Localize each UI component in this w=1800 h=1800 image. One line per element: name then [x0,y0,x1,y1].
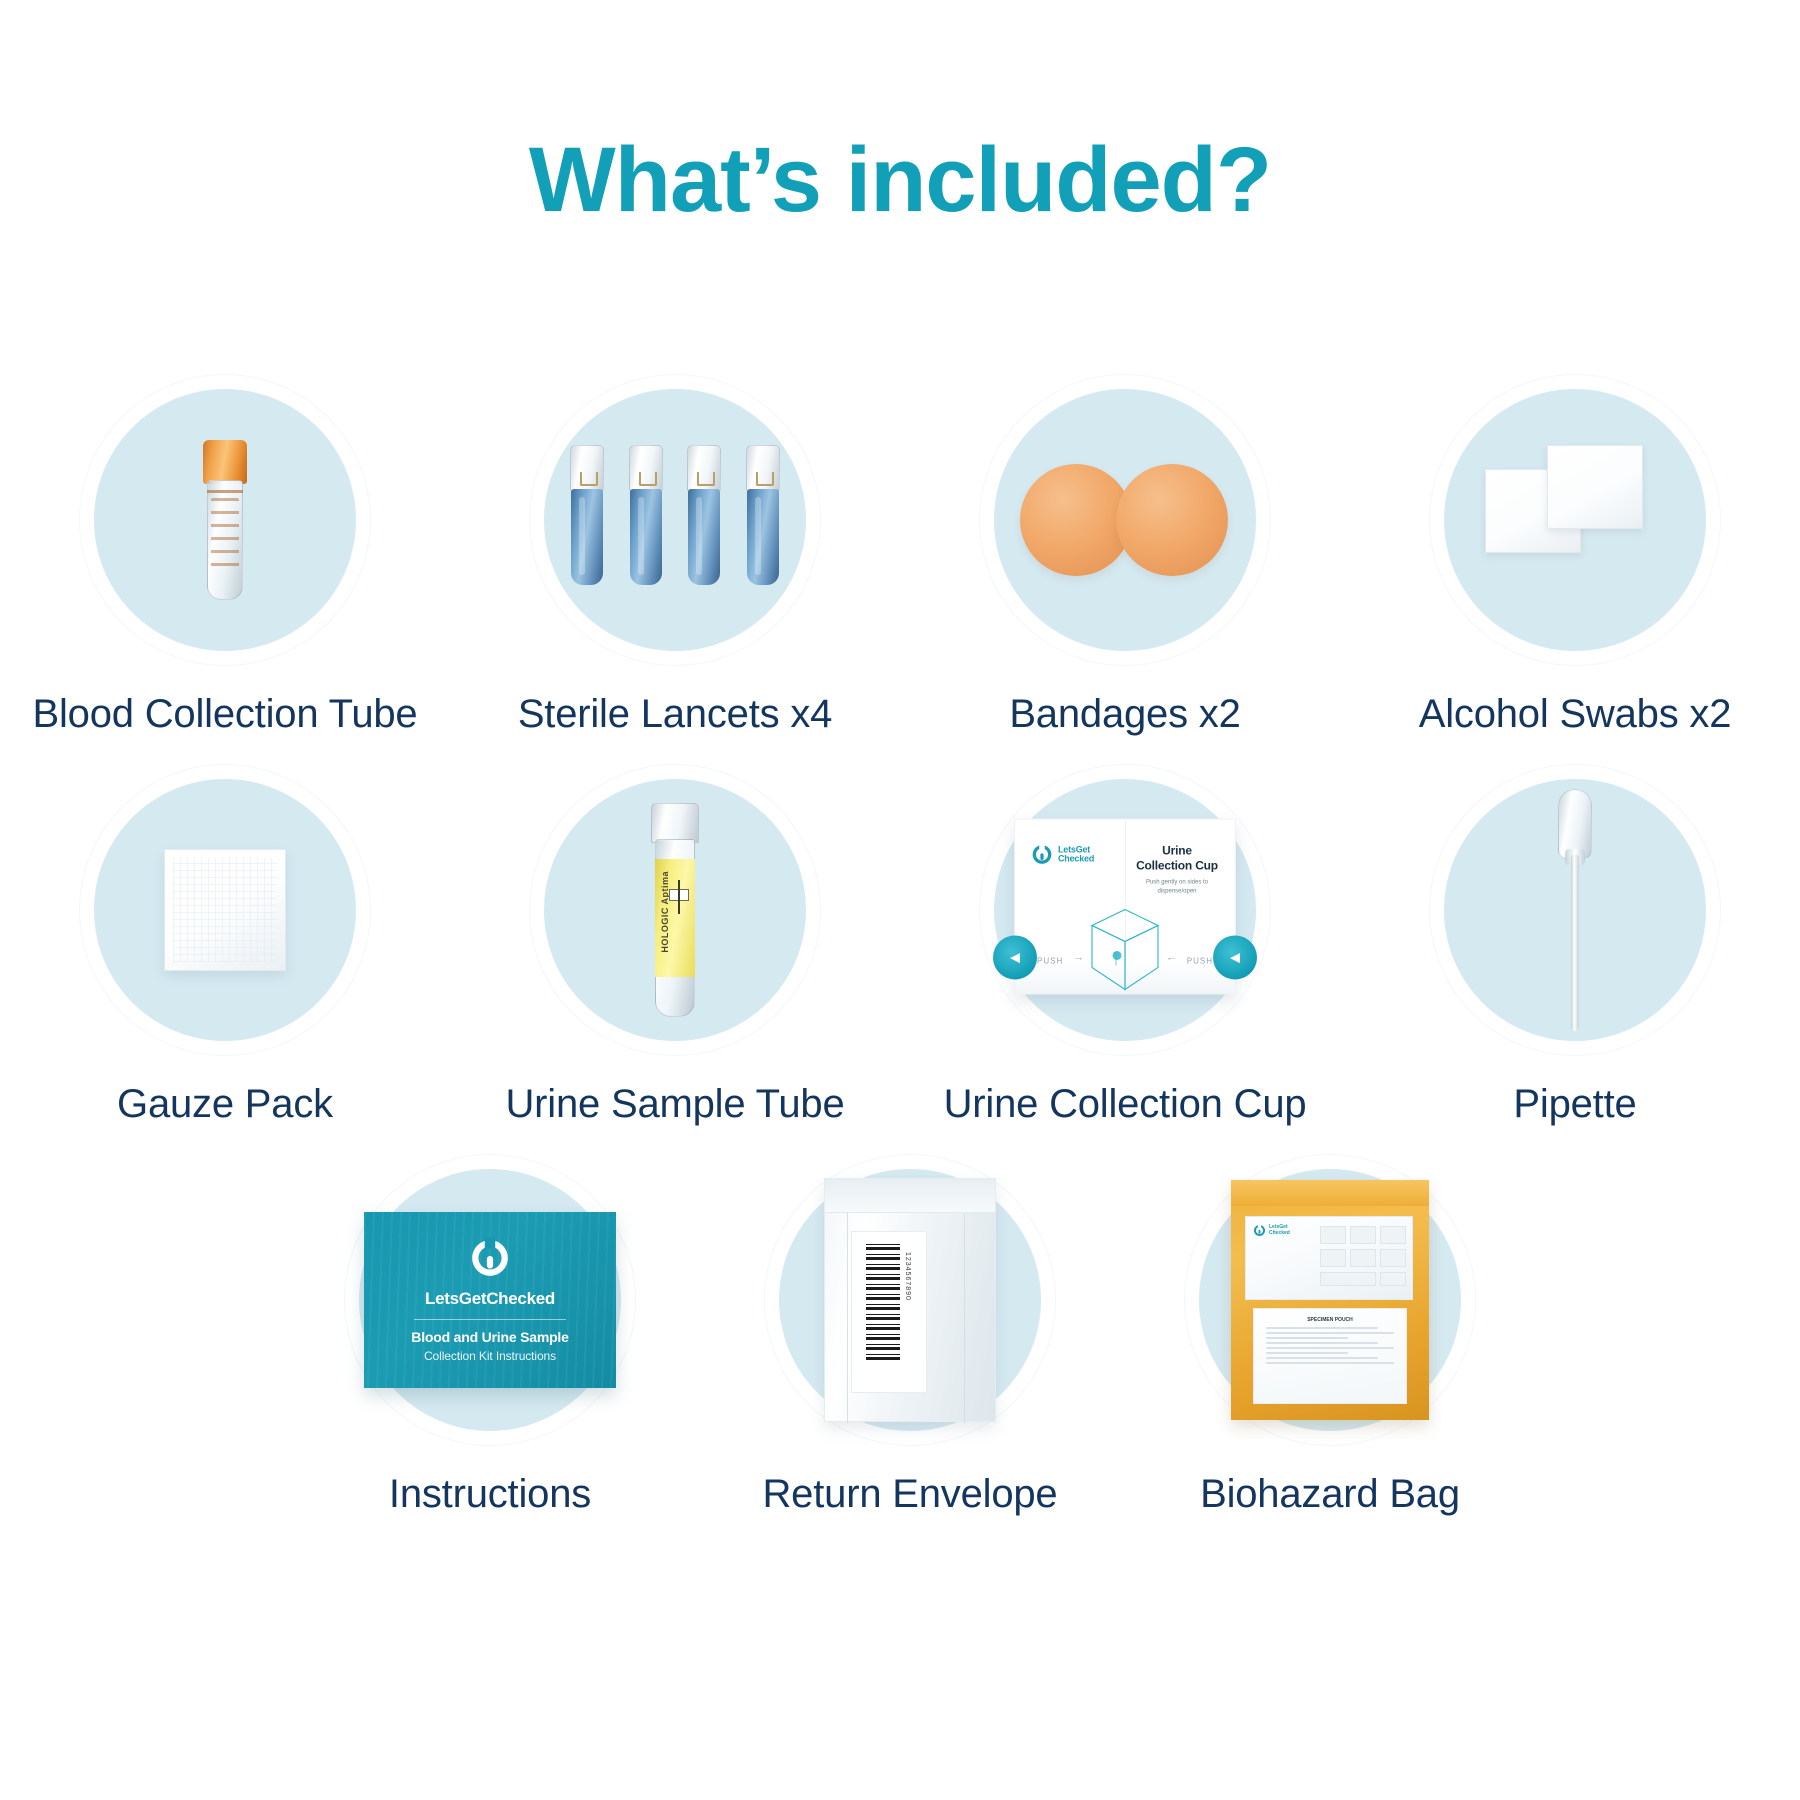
item-image-wrap: LetsGetChecked Blood and Urine Sample Co… [340,1150,640,1450]
items-row-1: Blood Collection Tube Sterile Lancets x4 [0,370,1800,737]
tube-label-text: HOLOGIC Aptima [660,871,670,953]
item-image-wrap: LetsGet Checked [1180,1150,1480,1450]
item-sterile-lancets[interactable]: Sterile Lancets x4 [450,370,900,737]
item-image-wrap: LetsGet Checked Urine Collection Cup Pus… [975,760,1275,1060]
push-label-left: PUSH [1037,956,1063,965]
pipette-icon [1425,760,1725,1060]
tube-yellow-label: HOLOGIC Aptima [655,859,695,977]
gauze-pack-icon [75,760,375,1060]
package-tab-left: ◀ [993,935,1037,979]
sterile-lancets-icon [525,370,825,670]
package-heading: Urine Collection Cup Push gently on side… [1127,843,1227,896]
brand-line-2: Checked [1058,853,1094,863]
tube-label [211,498,239,570]
item-alcohol-swabs[interactable]: Alcohol Swabs x2 [1350,370,1800,737]
item-label: Alcohol Swabs x2 [1419,692,1732,737]
barcode-icon [866,1242,900,1360]
alcohol-swabs-icon [1425,370,1725,670]
urine-collection-cup-icon: LetsGet Checked Urine Collection Cup Pus… [975,760,1275,1060]
bandage [1116,464,1228,576]
item-image-wrap [1425,760,1725,1060]
package-heading-line-2: Collection Cup [1136,858,1218,872]
item-image-wrap [75,370,375,670]
item-blood-collection-tube[interactable]: Blood Collection Tube [0,370,450,737]
alcohol-swab-sachet [1547,445,1643,529]
blood-collection-tube-icon [75,370,375,670]
letsgetchecked-logo-mark [1031,843,1053,865]
bag-instruction-sheet: SPECIMEN POUCH [1253,1308,1407,1404]
biohazard-bag-icon: LetsGet Checked [1180,1150,1480,1450]
bag-seal-strip [1231,1180,1429,1206]
item-label: Biohazard Bag [1200,1472,1460,1517]
items-row-3: LetsGetChecked Blood and Urine Sample Co… [0,1150,1800,1517]
page-title: What’s included? [0,132,1800,229]
letsgetchecked-logo-mark [1253,1224,1266,1237]
items-row-2: Gauze Pack HOLOGIC Aptima Urine Sample [0,760,1800,1127]
bag-label-fields [1320,1226,1406,1290]
barcode-number: 1234567890 [904,1252,911,1301]
envelope-crease [964,1213,965,1423]
letsgetchecked-logo: LetsGet Checked [1031,843,1094,865]
envelope-flap [825,1179,995,1213]
item-return-envelope[interactable]: 1234567890 Return Envelope [700,1150,1120,1517]
lancet [627,445,665,595]
return-envelope-icon: 1234567890 [760,1150,1060,1450]
item-image-wrap: HOLOGIC Aptima [525,760,825,1060]
push-label-right: PUSH [1187,956,1213,965]
letsgetchecked-logo: LetsGet Checked [1253,1224,1290,1237]
item-image-wrap [975,370,1275,670]
tube-cap [651,803,699,843]
brand-line-2: Checked [1269,1230,1290,1236]
package-heading-line-1: Urine [1162,843,1192,857]
tube-fill-ring [207,490,243,493]
item-label: Return Envelope [763,1472,1058,1517]
package-tab-right: ◀ [1213,935,1257,979]
bag-sheet-heading: SPECIMEN POUCH [1262,1317,1398,1323]
item-label: Instructions [389,1472,591,1517]
item-pipette[interactable]: Pipette [1350,760,1800,1127]
item-urine-sample-tube[interactable]: HOLOGIC Aptima Urine Sample Tube [450,760,900,1127]
push-arrow-right: ← [1166,951,1177,963]
item-urine-collection-cup[interactable]: LetsGet Checked Urine Collection Cup Pus… [900,760,1350,1127]
instructions-booklet-icon: LetsGetChecked Blood and Urine Sample Co… [340,1150,640,1450]
bandages-icon [975,370,1275,670]
item-label: Gauze Pack [117,1082,333,1127]
item-image-wrap: 1234567890 [760,1150,1060,1450]
item-label: Blood Collection Tube [33,692,418,737]
urine-sample-tube-icon: HOLOGIC Aptima [525,760,825,1060]
item-image-wrap [1425,370,1725,670]
tube-cap [203,440,247,484]
item-image-wrap [525,370,825,670]
letsgetchecked-logo-text: LetsGet Checked [1269,1225,1290,1236]
item-label: Urine Collection Cup [944,1082,1307,1127]
push-arrow-left: → [1073,951,1084,963]
lancet [685,445,723,595]
letsgetchecked-logo-text: LetsGet Checked [1058,845,1094,864]
item-instructions[interactable]: LetsGetChecked Blood and Urine Sample Co… [280,1150,700,1517]
whats-included-page: What’s included? Blood Collection Tube [0,0,1800,1800]
cup-cube-diagram [1086,905,1164,998]
envelope-address-card: 1234567890 [851,1231,927,1393]
item-bandages[interactable]: Bandages x2 [900,370,1350,737]
item-label: Sterile Lancets x4 [518,692,832,737]
bag-label-window: LetsGet Checked [1245,1216,1413,1300]
item-label: Urine Sample Tube [505,1082,844,1127]
pipette-stem [1571,855,1579,1031]
item-label: Bandages x2 [1009,692,1240,737]
item-image-wrap [75,760,375,1060]
lancet [744,445,782,595]
item-label: Pipette [1513,1082,1636,1127]
item-gauze-pack[interactable]: Gauze Pack [0,760,450,1127]
tube-fill-line-marker [669,889,689,901]
lancet [568,445,606,595]
letsgetchecked-logo-mark [469,1237,511,1279]
package-subtext: Push gently on sides to dispense/open [1127,878,1227,896]
item-biohazard-bag[interactable]: LetsGet Checked [1120,1150,1540,1517]
envelope-crease [847,1213,848,1423]
